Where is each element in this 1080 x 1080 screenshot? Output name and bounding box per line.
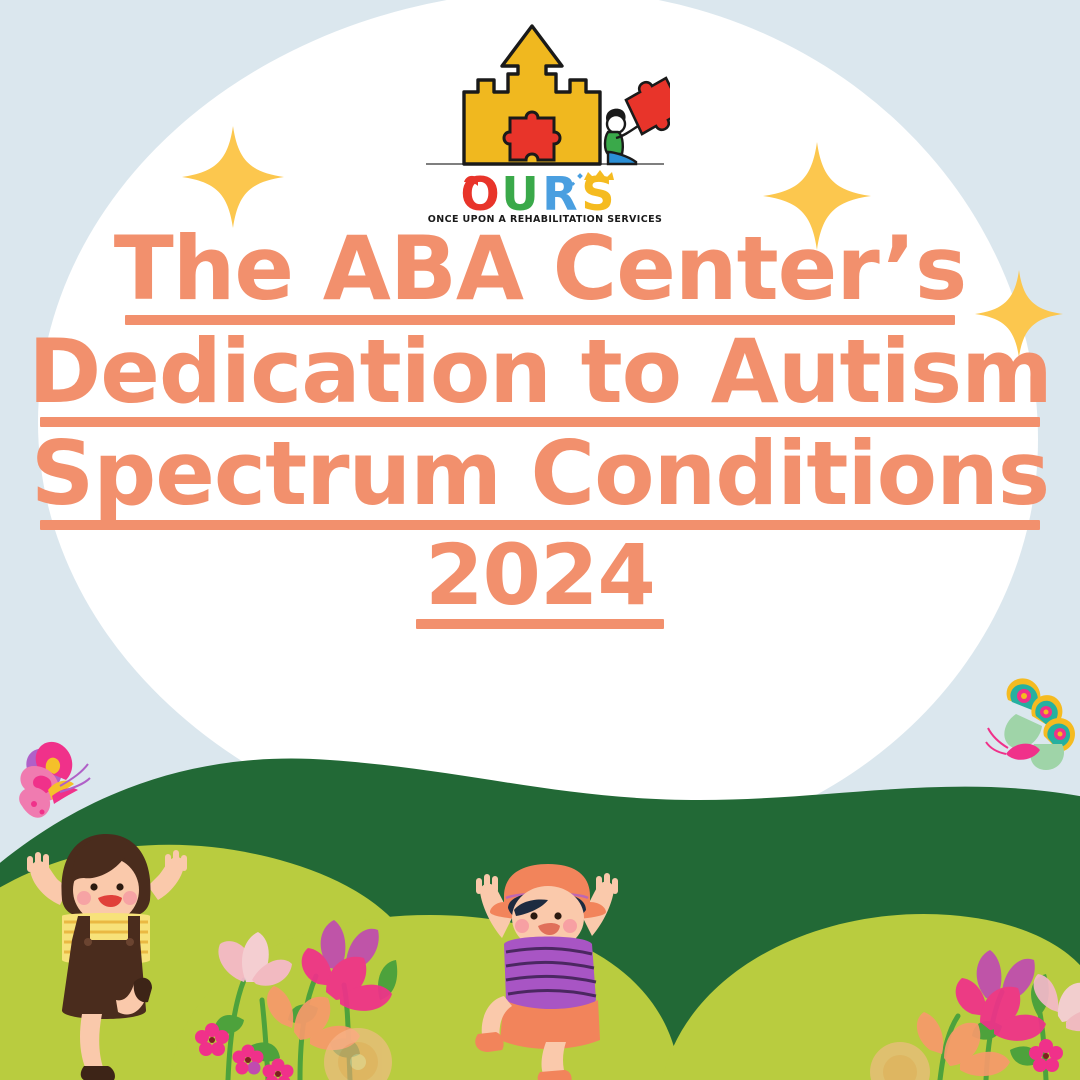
castle-logo-mark: [420, 18, 670, 178]
title-line-4-text: 2024: [425, 536, 655, 615]
logo-letter-O: O: [460, 170, 499, 216]
title-line-2-text: Dedication to Autism: [28, 331, 1052, 414]
flower-cluster-bottom-right-icon: [870, 950, 1080, 1080]
title-line-1: The ABA Center’s: [0, 228, 1080, 325]
poster-canvas: O U R S ONCE UPON A REHABILITATION SERVI…: [0, 0, 1080, 1080]
logo-tagline: ONCE UPON A REHABILITATION SERVICES: [420, 214, 670, 225]
logo-letter-U: U: [501, 170, 538, 216]
puzzle-piece-castle-icon: [504, 112, 560, 160]
ours-logo: O U R S ONCE UPON A REHABILITATION SERVI…: [420, 18, 670, 230]
logo-letter-R: R: [542, 170, 577, 216]
butterfly-pink-left-icon: [19, 742, 90, 818]
butterfly-teal-right-icon: [986, 678, 1075, 770]
title-line-2: Dedication to Autism: [0, 331, 1080, 428]
title-line-3: Spectrum Conditions: [0, 433, 1080, 530]
child-with-puzzle-icon: [605, 78, 670, 164]
child-legs-icon: [608, 152, 636, 164]
title-line-3-text: Spectrum Conditions: [31, 433, 1049, 516]
ours-wordmark: O U R S: [420, 170, 670, 216]
puzzle-piece-held-icon: [626, 78, 670, 134]
small-blossoms: [195, 1023, 294, 1080]
girl-left-illustration: [27, 834, 187, 1080]
poster-title: The ABA Center’s Dedication to Autism Sp…: [0, 228, 1080, 635]
flower-cluster-bottom-left-icon: [195, 920, 397, 1080]
child-head-icon: [607, 115, 625, 133]
child-center-illustration: [475, 864, 618, 1080]
title-line-4: 2024: [0, 536, 1080, 629]
title-line-1-text: The ABA Center’s: [114, 228, 966, 311]
